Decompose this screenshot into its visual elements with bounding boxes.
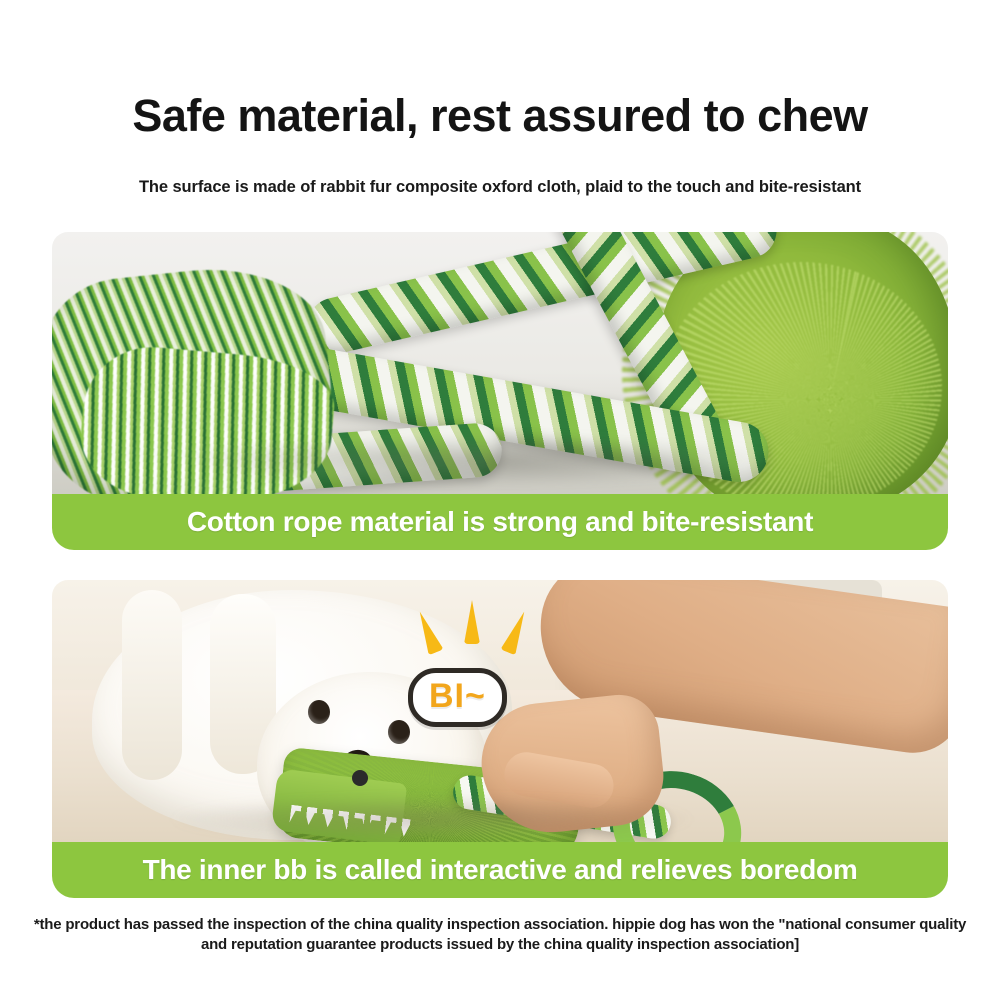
- certification-footnote: *the product has passed the inspection o…: [28, 915, 972, 955]
- caption-text-interactive: The inner bb is called interactive and r…: [143, 854, 858, 886]
- crocodile-toy-eye: [352, 770, 368, 786]
- dog-eye-right: [388, 720, 410, 744]
- product-infographic-page: Safe material, rest assured to chew The …: [0, 0, 1000, 1000]
- caption-text-rope: Cotton rope material is strong and bite-…: [187, 506, 813, 538]
- caption-bar-rope: Cotton rope material is strong and bite-…: [52, 494, 948, 550]
- caption-bar-interactive: The inner bb is called interactive and r…: [52, 842, 948, 898]
- dog-eye-left: [308, 700, 330, 724]
- interactive-bb-image: BI~: [52, 580, 948, 842]
- sound-effect-bubble: BI~: [408, 668, 507, 727]
- page-subtitle: The surface is made of rabbit fur compos…: [0, 178, 1000, 197]
- rope-drop-shadow: [172, 434, 792, 488]
- dog-front-leg-left: [122, 590, 182, 780]
- rope-material-image: [52, 232, 948, 494]
- dog-drop-shadow: [172, 796, 692, 842]
- page-title: Safe material, rest assured to chew: [0, 92, 1000, 139]
